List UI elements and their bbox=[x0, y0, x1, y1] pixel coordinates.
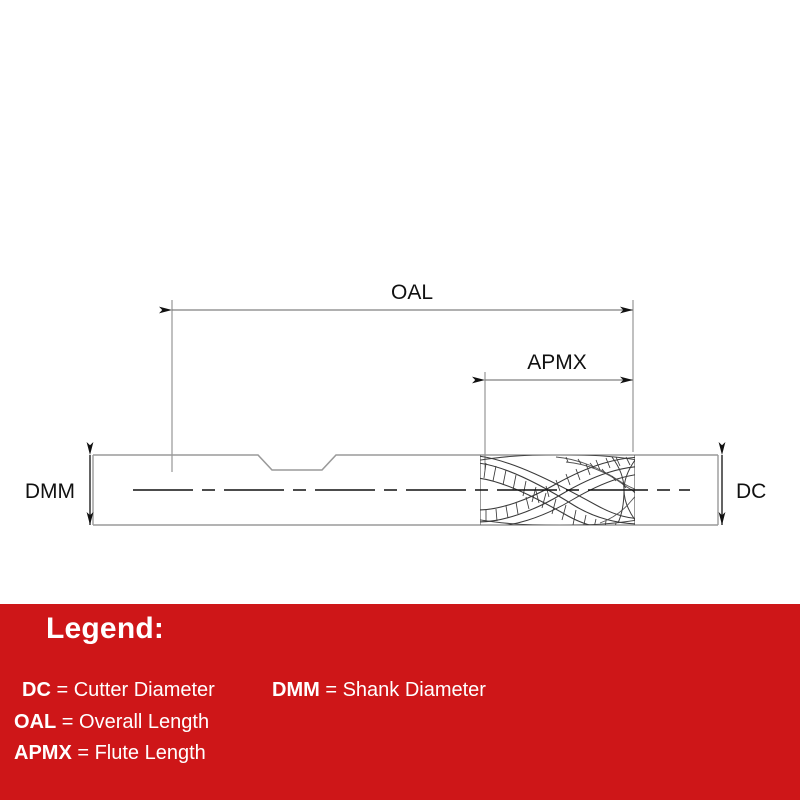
legend-sep-dc: = bbox=[51, 679, 74, 701]
dimension-oal: OAL bbox=[172, 281, 633, 472]
legend-sep-apmx: = bbox=[72, 742, 95, 764]
flute-helix-c2 bbox=[566, 462, 652, 497]
legend-sep-oal: = bbox=[56, 711, 79, 733]
legend-sep-dmm: = bbox=[320, 679, 343, 701]
legend-entry-apmx: APMX = Flute Length bbox=[14, 743, 206, 763]
apmx-dimension-label: APMX bbox=[527, 351, 587, 374]
legend-definition-apmx: Flute Length bbox=[95, 742, 206, 764]
legend-definition-dc: Cutter Diameter bbox=[74, 679, 215, 701]
legend-entry-oal: OAL = Overall Length bbox=[14, 712, 209, 732]
legend-title: Legend: bbox=[46, 614, 164, 644]
legend-definition-oal: Overall Length bbox=[79, 711, 209, 733]
dc-dimension-label: DC bbox=[736, 480, 766, 503]
legend-abbr-dmm: DMM bbox=[272, 679, 320, 701]
oal-dimension-label: OAL bbox=[391, 281, 433, 304]
page-root: OAL APMX bbox=[0, 0, 800, 800]
dimension-dc: DC bbox=[722, 455, 766, 525]
legend-abbr-dc: DC bbox=[22, 679, 51, 701]
dimension-dmm: DMM bbox=[25, 455, 90, 525]
technical-drawing: OAL APMX bbox=[0, 0, 800, 604]
flute-helix-b3 bbox=[486, 473, 656, 527]
end-mill-drawing-svg: OAL APMX bbox=[0, 0, 800, 604]
legend-definition-dmm: Shank Diameter bbox=[343, 679, 486, 701]
dmm-dimension-label: DMM bbox=[25, 480, 75, 503]
legend-abbr-oal: OAL bbox=[14, 711, 56, 733]
legend-entry-dmm: DMM = Shank Diameter bbox=[272, 680, 486, 700]
tool-top-profile bbox=[93, 455, 718, 470]
dimension-apmx: APMX bbox=[485, 340, 633, 470]
flute-section bbox=[470, 455, 656, 535]
legend-banner: Legend: DC = Cutter Diameter DMM = Shank… bbox=[0, 604, 800, 800]
legend-entry-dc: DC = Cutter Diameter bbox=[22, 680, 215, 700]
flute-helix-a3 bbox=[478, 456, 646, 519]
legend-abbr-apmx: APMX bbox=[14, 742, 72, 764]
